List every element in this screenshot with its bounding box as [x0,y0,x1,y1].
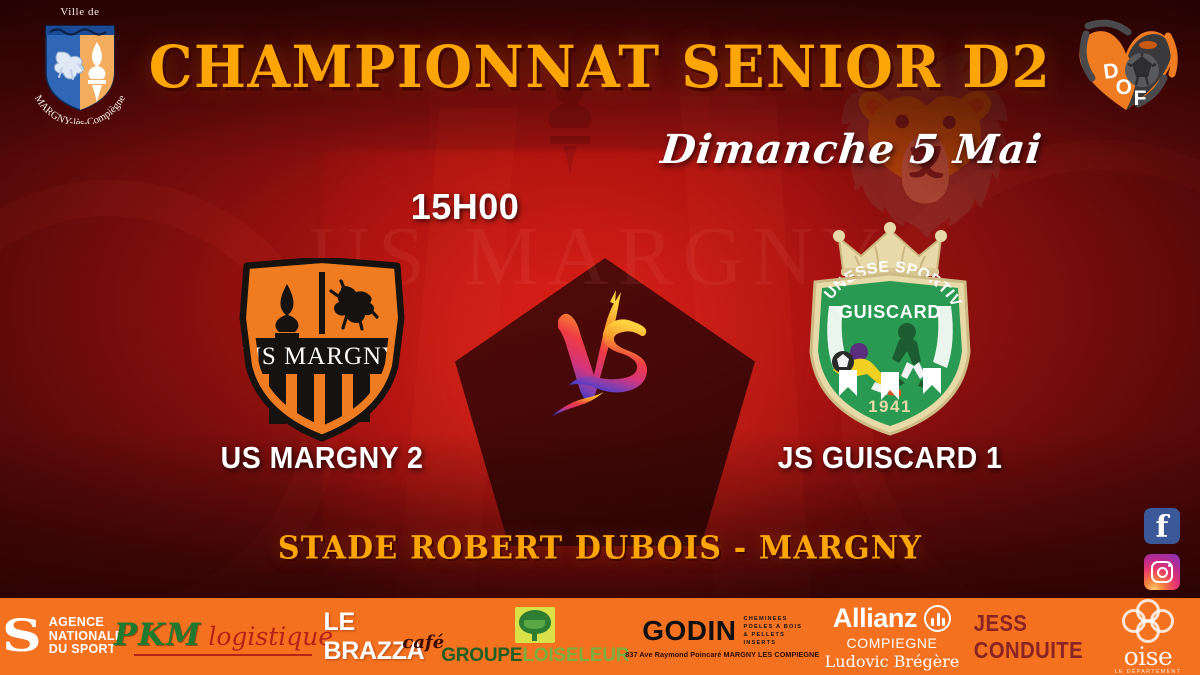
us-margny-crest-icon: US MARGNY [231,258,413,442]
sponsor-groupe-loiseleur: GROUPE LOISELEUR [444,598,626,675]
allianz-sub1: COMPIEGNE [847,635,938,651]
social-links: f [1144,508,1184,600]
ans-s-icon: S [2,617,42,657]
facebook-icon[interactable]: f [1144,508,1180,544]
godin-tag1: CHEMINEES [744,616,803,622]
vs-logo [548,288,672,428]
ans-text: AGENCE NATIONALE DU SPORT [49,616,124,657]
city-crest-top-label: Ville de [18,6,142,18]
sponsor-bar: S AGENCE NATIONALE DU SPORT PKM logistiq… [0,598,1200,675]
loiseleur-word2: LOISELEUR [522,645,629,667]
allianz-main: Allianz [833,603,917,634]
facebook-glyph: f [1144,508,1180,544]
match-date: Dimanche 5 Mai [658,126,1044,173]
godin-tag2: POELES A BOIS [744,624,803,630]
godin-address: 837 Ave Raymond Poincaré MARGNY LES COMP… [625,650,819,659]
sponsor-agence-nationale-du-sport: S AGENCE NATIONALE DU SPORT [0,598,123,675]
js-guiscard-crest-icon: JEUNESSE SPORTIVE GUISCARD 1941 [795,222,985,440]
oise-flower-icon [1122,599,1174,645]
jess-main: JESS CONDUITE [974,610,1089,664]
svg-text:US MARGNY: US MARGNY [243,343,401,370]
home-team-name: US MARGNY 2 [173,440,471,476]
ans-line3: DU SPORT [49,643,124,657]
ans-line1: AGENCE [49,616,124,630]
oise-sub: LE DÉPARTEMENT [1115,669,1182,675]
kickoff-time: 15H00 [0,186,1200,228]
sponsor-allianz-compiegne: Allianz COMPIEGNE Ludovic Brégère [818,598,966,675]
godin-tag3: & PELLETS [744,632,803,638]
allianz-icon [924,605,951,632]
oise-main: oise [1124,642,1173,671]
sponsor-le-brazza-cafe: LE BRAZZA café [323,598,444,675]
godin-tag4: INSERTS [744,640,803,646]
brazza-sub: café [402,632,444,653]
loiseleur-tree-icon [515,607,555,643]
instagram-icon[interactable] [1144,554,1180,590]
sponsor-godin: GODIN CHEMINEES POELES A BOIS & PELLETS … [626,598,818,675]
sponsor-oise-departement: oise LE DÉPARTEMENT [1096,598,1200,675]
pkm-sub: logistique [208,622,333,651]
away-team-name: JS GUISCARD 1 [741,440,1039,476]
ans-line2: NATIONALE [49,630,124,644]
pkm-main: PKM [114,617,202,653]
instagram-lens [1157,567,1168,578]
pkm-underline [134,654,312,656]
loiseleur-word1: GROUPE [441,645,522,667]
sponsor-jess-conduite: JESS CONDUITE [966,598,1096,675]
godin-main: GODIN [642,615,736,647]
venue-label: STADE ROBERT DUBOIS - MARGNY [0,530,1200,567]
allianz-sub2: Ludovic Brégère [825,652,960,671]
sponsor-pkm-logistique: PKM logistique [123,598,323,675]
crest-year: 1941 [868,397,912,416]
page-title: CHAMPIONNAT SENIOR D2 [0,32,1200,101]
match-announcement-poster: 🦁 US MARGNY Ville de MARGNY-lès-Co [0,0,1200,675]
godin-tagline: CHEMINEES POELES A BOIS & PELLETS INSERT… [744,616,803,646]
svg-text:GUISCARD: GUISCARD [839,302,941,322]
